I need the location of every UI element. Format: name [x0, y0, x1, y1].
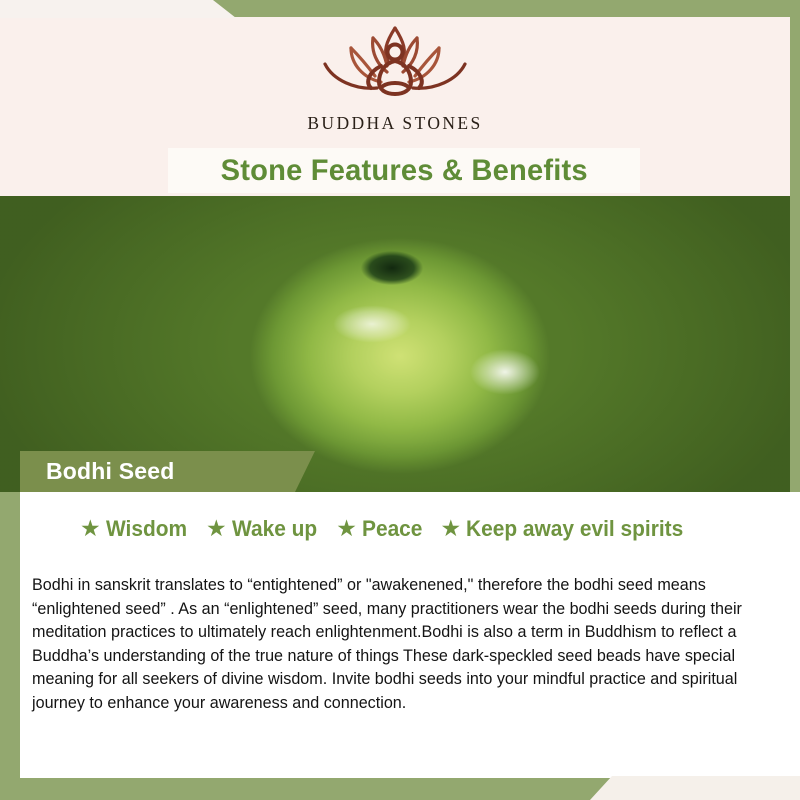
title-banner: Stone Features & Benefits [168, 148, 640, 193]
hero-photo [0, 196, 790, 492]
infographic-page: BUDDHA STONES Stone Features & Benefits … [0, 0, 800, 800]
brand-logo: BUDDHA STONES [0, 22, 790, 140]
page-title: Stone Features & Benefits [220, 156, 587, 186]
star-icon: ★ [80, 517, 101, 540]
bodhi-seed-ribbon: Bodhi Seed [20, 451, 315, 492]
content-card: ★ Wisdom ★ Wake up ★ Peace ★ Keep away e… [20, 492, 800, 778]
ribbon-label: Bodhi Seed [46, 458, 175, 485]
feature-label: Wake up [232, 516, 317, 542]
bottom-right-corner-notch [570, 776, 800, 800]
top-left-corner-notch [0, 0, 236, 18]
feature-label: Peace [362, 516, 422, 542]
lotus-meditation-icon [311, 22, 479, 111]
bodhi-seed-photo [0, 196, 790, 492]
brand-wordmark: BUDDHA STONES [307, 113, 482, 134]
feature-item-wake-up: ★ Wake up [206, 516, 321, 542]
star-icon: ★ [441, 517, 462, 540]
star-icon: ★ [206, 517, 227, 540]
feature-list: ★ Wisdom ★ Wake up ★ Peace ★ Keep away e… [80, 516, 695, 542]
feature-item-peace: ★ Peace [336, 516, 425, 542]
feature-item-keep-away-evil-spirits: ★ Keep away evil spirits [441, 516, 695, 542]
feature-label: Wisdom [106, 516, 187, 542]
feature-label: Keep away evil spirits [466, 516, 683, 542]
feature-item-wisdom: ★ Wisdom [80, 516, 191, 542]
star-icon: ★ [336, 517, 357, 540]
description-text: Bodhi in sanskrit translates to “entight… [32, 574, 775, 715]
